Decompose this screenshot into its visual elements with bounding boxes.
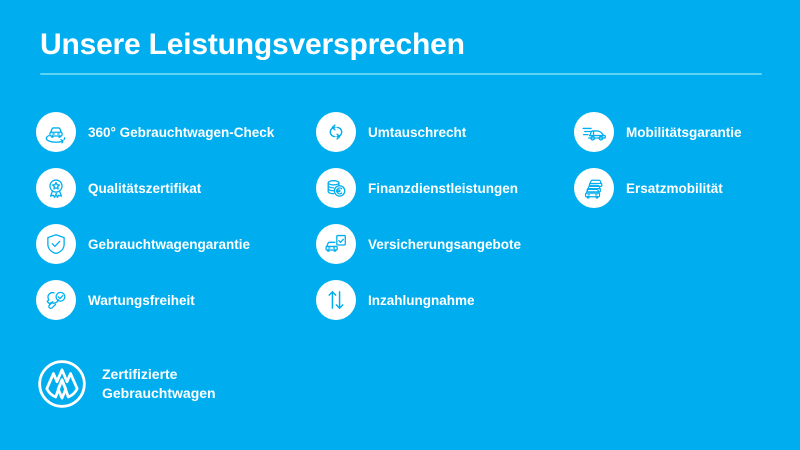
arrows-up-down-icon	[316, 280, 356, 320]
volkswagen-logo	[36, 358, 88, 410]
brand-text-line-2: Gebrauchtwagen	[102, 384, 216, 403]
page-title: Unsere Leistungsversprechen	[40, 26, 762, 64]
benefits-grid: 360° Gebrauchtwagen-Check Qualitätszerti…	[0, 104, 800, 334]
benefit-label: Finanzdienstleistungen	[368, 180, 518, 197]
benefit-item[interactable]: Umtauschrecht	[316, 104, 566, 160]
moving-van-icon	[574, 112, 614, 152]
benefit-label: Wartungsfreiheit	[88, 292, 195, 309]
benefit-item[interactable]: Wartungsfreiheit	[36, 272, 308, 328]
shield-check-icon	[36, 224, 76, 264]
benefit-label: Gebrauchtwagengarantie	[88, 236, 250, 253]
title-divider	[40, 73, 762, 75]
wrench-check-icon	[36, 280, 76, 320]
benefit-label: Qualitätszertifikat	[88, 180, 201, 197]
benefit-item[interactable]: Gebrauchtwagengarantie	[36, 216, 308, 272]
benefit-item[interactable]: 360° Gebrauchtwagen-Check	[36, 104, 308, 160]
header: Unsere Leistungsversprechen	[40, 26, 762, 75]
benefit-label: Umtauschrecht	[368, 124, 466, 141]
brand-text-line-1: Zertifizierte	[102, 365, 216, 384]
exchange-arrows-icon	[316, 112, 356, 152]
benefit-item[interactable]: Ersatzmobilität	[574, 160, 794, 216]
benefit-label: 360° Gebrauchtwagen-Check	[88, 124, 274, 141]
benefit-label: Mobilitätsgarantie	[626, 124, 742, 141]
slide-root: Unsere Leistungsversprechen	[0, 0, 800, 450]
award-rosette-icon	[36, 168, 76, 208]
brand-text: Zertifizierte Gebrauchtwagen	[102, 365, 216, 403]
benefit-item[interactable]: Inzahlungnahme	[316, 272, 566, 328]
benefit-item[interactable]: Mobilitätsgarantie	[574, 104, 794, 160]
benefit-label: Ersatzmobilität	[626, 180, 723, 197]
benefit-item[interactable]: Versicherungsangebote	[316, 216, 566, 272]
benefits-column-1: 360° Gebrauchtwagen-Check Qualitätszerti…	[36, 104, 308, 328]
benefit-item[interactable]: Finanzdienstleistungen	[316, 160, 566, 216]
benefits-column-2: Umtauschrecht Finanzdienstleistun	[316, 104, 566, 328]
two-cars-icon	[574, 168, 614, 208]
benefit-label: Inzahlungnahme	[368, 292, 475, 309]
benefit-item[interactable]: Qualitätszertifikat	[36, 160, 308, 216]
benefits-column-3: Mobilitätsgarantie E	[574, 104, 794, 216]
benefit-label: Versicherungsangebote	[368, 236, 521, 253]
car-document-check-icon	[316, 224, 356, 264]
coins-euro-icon	[316, 168, 356, 208]
car-360-check-icon	[36, 112, 76, 152]
brand-lockup: Zertifizierte Gebrauchtwagen	[36, 358, 216, 410]
